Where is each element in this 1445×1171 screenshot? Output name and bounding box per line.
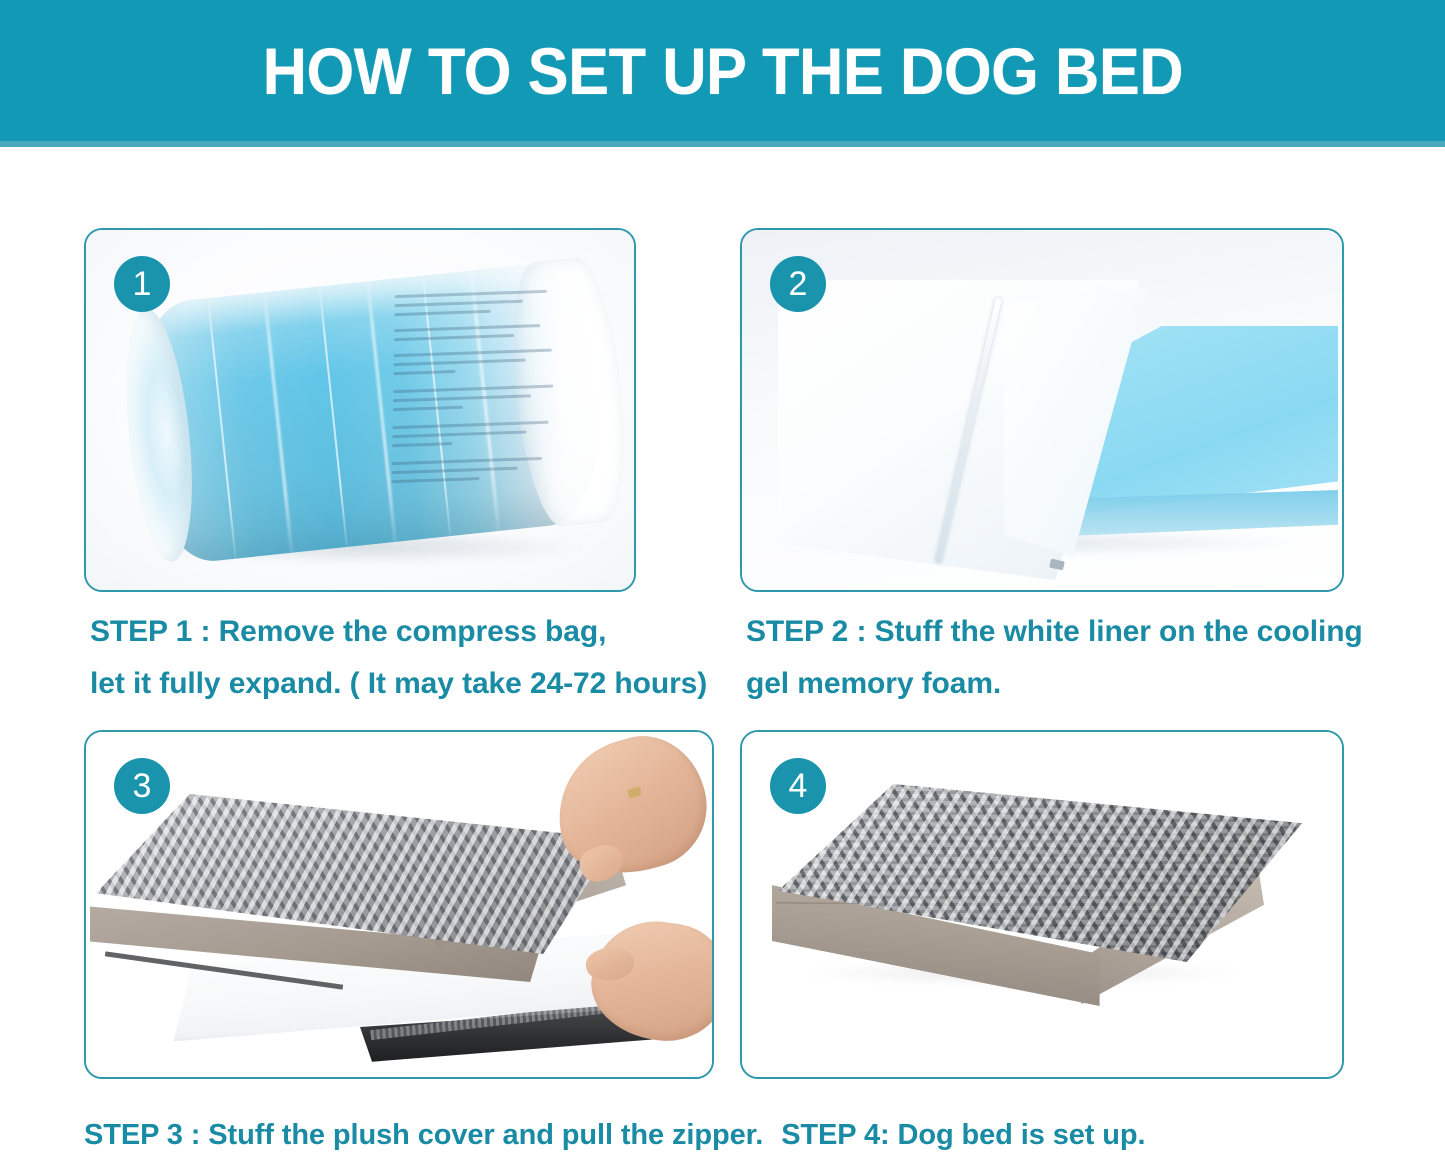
- step-4-badge: 4: [770, 758, 826, 814]
- finished-dog-bed: [772, 784, 1312, 1034]
- page-title: HOW TO SET UP THE DOG BED: [262, 38, 1183, 104]
- step-1-image-panel: 1: [84, 228, 636, 592]
- step-3-photo: [86, 732, 712, 1077]
- compressed-foam-roll: [132, 259, 607, 567]
- step-4-photo: [742, 732, 1342, 1077]
- step-1-badge: 1: [114, 256, 170, 312]
- step-2-caption: STEP 2 : Stuff the white liner on the co…: [746, 606, 1386, 709]
- step-3-badge: 3: [114, 758, 170, 814]
- gel-foam-assembly: [768, 270, 1328, 560]
- warning-label-text-block: [391, 287, 575, 508]
- header-underline-divider: [0, 141, 1445, 147]
- step-1-caption: STEP 1 : Remove the compress bag, let it…: [90, 606, 730, 709]
- plush-cover-assembly: [86, 772, 712, 1072]
- step-2-photo: [742, 230, 1342, 590]
- step-3-and-4-caption-row: STEP 3 : Stuff the plush cover and pull …: [84, 1118, 1414, 1153]
- header-banner: HOW TO SET UP THE DOG BED: [0, 0, 1445, 141]
- step-3-caption: STEP 3 : Stuff the plush cover and pull …: [84, 1119, 763, 1151]
- step-2-image-panel: 2: [740, 228, 1344, 592]
- step-4-caption: STEP 4: Dog bed is set up.: [781, 1119, 1145, 1151]
- step-4-image-panel: 4: [740, 730, 1344, 1079]
- step-2-badge: 2: [770, 256, 826, 312]
- step-3-image-panel: 3: [84, 730, 714, 1079]
